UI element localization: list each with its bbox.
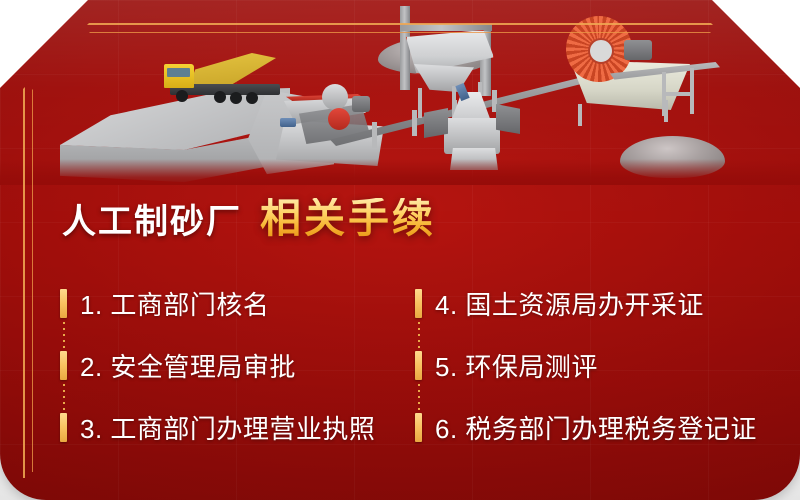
list-item[interactable]: 5. 环保局测评 [415, 334, 750, 396]
list-item[interactable]: 3. 工商部门办理营业执照 [60, 396, 415, 458]
sand-maker-feed-pipe [455, 83, 469, 101]
scene-bottom-fade [0, 159, 800, 185]
crusher-blue-panel [280, 118, 296, 127]
list-item-label: 5. 环保局测评 [435, 347, 598, 384]
list-item[interactable]: 2. 安全管理局审批 [60, 334, 415, 396]
bullet-marker-icon [415, 289, 422, 318]
list-item-label: 4. 国土资源局办开采证 [435, 285, 704, 322]
list-item-label: 1. 工商部门核名 [80, 285, 269, 322]
list-item[interactable]: 1. 工商部门核名 [60, 272, 415, 334]
truck-wheel [214, 91, 226, 103]
sand-maker-motor-right [496, 104, 520, 134]
screen-tower-beam [400, 24, 492, 31]
discharge-conveyor-leg [690, 68, 694, 114]
title-primary: 人工制砂厂 [62, 205, 242, 239]
sand-maker-motor-left [424, 108, 448, 138]
sand-washer-leg [578, 104, 582, 126]
truck-windshield [167, 68, 190, 77]
list-item[interactable]: 4. 国土资源局办开采证 [415, 272, 750, 334]
procedure-list: 1. 工商部门核名 4. 国土资源局办开采证 2. 安全管理局审批 5. 环保局… [60, 272, 750, 458]
bullet-marker-icon [415, 413, 422, 442]
screen-tower-column [400, 6, 410, 90]
truck-wheel [176, 90, 188, 102]
conveyor-support-leg [412, 110, 417, 136]
bullet-marker-icon [415, 351, 422, 380]
list-item[interactable]: 6. 税务部门办理税务登记证 [415, 396, 750, 458]
bullet-marker-icon [60, 351, 67, 380]
bullet-marker-icon [60, 289, 67, 318]
banner-root: 人工制砂厂 相关手续 1. 工商部门核名 4. 国土资源局办开采证 2. 安全管… [0, 0, 800, 500]
crusher-flywheel [328, 108, 350, 130]
truck-wheel [230, 92, 242, 104]
sand-washer-hub [588, 38, 614, 64]
discharge-conveyor-rail [662, 92, 694, 96]
banner-title: 人工制砂厂 相关手续 [62, 198, 436, 239]
sand-washer-drive [624, 40, 652, 60]
list-item-label: 3. 工商部门办理营业执照 [80, 409, 375, 446]
crusher-motor [352, 96, 370, 112]
crusher-flywheel-housing [322, 84, 348, 110]
screen-support-leg [418, 88, 422, 118]
production-line-illustration [0, 0, 800, 185]
truck-wheel [246, 92, 258, 104]
list-item-label: 6. 税务部门办理税务登记证 [435, 409, 757, 446]
bullet-marker-icon [60, 413, 67, 442]
title-highlight: 相关手续 [260, 198, 436, 239]
list-item-label: 2. 安全管理局审批 [80, 347, 296, 384]
conveyor-support-leg [372, 122, 377, 148]
